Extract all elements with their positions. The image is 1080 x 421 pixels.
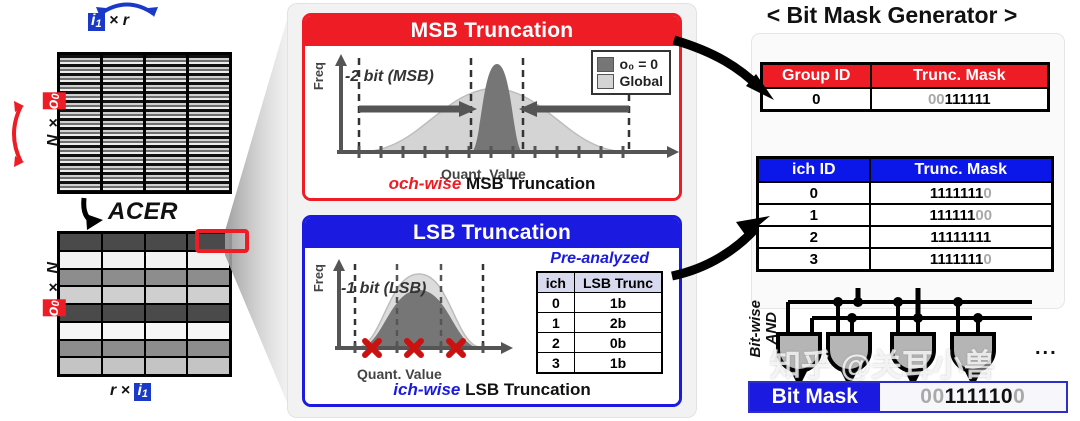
table-row: 211111111 <box>758 226 1053 248</box>
matrix-cell <box>103 234 146 250</box>
cell-trunc-mask: 11111100 <box>870 204 1053 226</box>
cell-trunc-mask: 00111111 <box>871 88 1049 111</box>
table-row: 31b <box>537 353 662 374</box>
matrix-cell <box>188 341 229 357</box>
msb-y-axis-label: Freq <box>311 62 326 90</box>
cell-lsb-trunc: 1b <box>574 293 662 313</box>
matrix-cell <box>146 270 189 286</box>
bitmask-dim-prefix: 00 <box>920 385 944 409</box>
gates-ellipsis: ... <box>1035 337 1058 360</box>
zoom-funnel-wedge <box>225 0 295 421</box>
matrix-row <box>60 305 229 323</box>
col-trunc-mask: Trunc. Mask <box>870 158 1053 183</box>
matrix-cell <box>60 234 103 250</box>
legend-swatch-global <box>597 74 614 89</box>
mask-bright: 1111111 <box>930 251 983 268</box>
cell-trunc-mask: 11111111 <box>870 226 1053 248</box>
matrix-cell <box>103 287 146 303</box>
msb-to-lut-arrow-icon <box>660 18 790 118</box>
cell-ich: 3 <box>537 353 575 374</box>
matrix-cell <box>103 358 146 374</box>
col-ich-id: ich ID <box>758 158 870 183</box>
matrix-cell <box>188 252 229 268</box>
msb-panel-title: MSB Truncation <box>305 16 679 46</box>
i1-tag-top: i1 <box>88 13 105 31</box>
matrix-row <box>60 270 229 288</box>
table-row: 311111110 <box>758 248 1053 271</box>
msb-panel-body: Freq -2 bit (MSB) <box>305 46 679 198</box>
mask-bright: 111111 <box>945 91 991 108</box>
table-row: 011111110 <box>758 182 1053 204</box>
legend-label-och: o₀ = 0 <box>619 56 658 72</box>
top-matrix-dimension-label: i1 × r <box>88 12 129 31</box>
matrix-cell <box>60 341 103 357</box>
matrix-column <box>60 55 103 191</box>
mask-dim-suffix: 0 <box>983 251 991 268</box>
table-row: 20b <box>537 333 662 353</box>
cell-trunc-mask: 11111110 <box>870 248 1053 271</box>
bit-mask-output-bar: Bit Mask 001111100 <box>748 381 1068 413</box>
cell-ich: 0 <box>537 293 575 313</box>
mask-dim-suffix: 0 <box>983 185 991 202</box>
legend-label-global: Global <box>619 73 663 89</box>
matrix-cell <box>103 270 146 286</box>
matrix-cell <box>60 270 103 286</box>
col-trunc-mask: Trunc. Mask <box>871 64 1049 89</box>
mask-bright: 1111111 <box>930 185 983 202</box>
table-row: 01b <box>537 293 662 313</box>
table-row: 000111111 <box>762 88 1049 111</box>
lsb-trunc-lut-table: ich ID Trunc. Mask 011111110111111100211… <box>756 156 1054 272</box>
table-row: 12b <box>537 313 662 333</box>
matrix-cell <box>103 341 146 357</box>
matrix-cell <box>188 305 229 321</box>
lsb-to-lut-arrow-icon <box>660 182 790 292</box>
cell-ich: 1 <box>537 313 575 333</box>
matrix-cell <box>146 252 189 268</box>
matrix-cell <box>103 305 146 321</box>
matrix-cell <box>146 305 189 321</box>
bottom-matrix-row-dimension-label: o0 × N <box>0 262 66 321</box>
matrix-cell <box>188 323 229 339</box>
matrix-cell <box>103 323 146 339</box>
mask-bright: 11111111 <box>930 229 991 246</box>
preanalyzed-lsb-table: ich LSB Trunc 01b12b20b31b <box>536 271 663 374</box>
matrix-row <box>60 341 229 359</box>
matrix-cell <box>103 252 146 268</box>
table-header-row: Group ID Trunc. Mask <box>762 64 1049 89</box>
bit-mask-output-label: Bit Mask <box>750 383 880 411</box>
mask-dim-prefix: 00 <box>928 91 945 108</box>
bit-mask-output-value: 001111100 <box>880 383 1066 411</box>
mask-bright: 111111 <box>929 207 975 224</box>
lsb-truncation-panel: LSB Truncation Freq -1 bit (LSB) <box>302 215 682 407</box>
matrix-row <box>60 358 229 374</box>
cell-lsb-trunc: 2b <box>574 313 662 333</box>
col-lsb-trunc: LSB Trunc <box>574 272 662 293</box>
cell-lsb-trunc: 0b <box>574 333 662 353</box>
bitmask-bright: 111110 <box>945 385 1013 409</box>
preanalyzed-table-title: Pre-analyzed <box>550 250 649 268</box>
and-gate-array <box>770 288 1040 383</box>
o0-tag-bottom: o0 <box>43 299 66 316</box>
original-weight-matrix <box>57 52 232 194</box>
truncation-method-panels: MSB Truncation Freq -2 bit (MSB) <box>288 4 696 417</box>
selected-tile-highlight <box>195 229 249 253</box>
matrix-cell <box>60 323 103 339</box>
table-header-row: ich LSB Trunc <box>537 272 662 293</box>
lsb-panel-body: Freq -1 bit (LSB) <box>305 248 679 404</box>
top-matrix-row-dimension-label: N × o0 <box>0 92 66 151</box>
matrix-cell <box>188 270 229 286</box>
lsb-panel-title: LSB Truncation <box>305 218 679 248</box>
table-row: 111111100 <box>758 204 1053 226</box>
msb-truncation-panel: MSB Truncation Freq -2 bit (MSB) <box>302 13 682 201</box>
msb-panel-footer: och-wise MSB Truncation <box>305 174 679 194</box>
matrix-cell <box>60 305 103 321</box>
matrix-cell <box>146 234 189 250</box>
col-ich: ich <box>537 272 575 293</box>
bottom-matrix-dimension-label: r × i1 <box>110 382 151 401</box>
cell-lsb-trunc: 1b <box>574 353 662 374</box>
lsb-bit-note: -1 bit (LSB) <box>341 280 426 298</box>
o0-tag-top: o0 <box>43 92 66 109</box>
matrix-cell <box>146 358 189 374</box>
matrix-cell <box>188 287 229 303</box>
i1-tag-bottom: i1 <box>134 383 151 401</box>
matrix-row <box>60 323 229 341</box>
matrix-cell <box>60 287 103 303</box>
mask-dim-suffix: 00 <box>975 207 992 224</box>
matrix-row <box>60 287 229 305</box>
matrix-column <box>146 55 189 191</box>
cell-ich: 2 <box>537 333 575 353</box>
bitmask-dim-suffix: 0 <box>1013 385 1025 409</box>
cell-trunc-mask: 11111110 <box>870 182 1053 204</box>
matrix-column <box>103 55 146 191</box>
legend-swatch-och <box>597 57 614 72</box>
legend-entry: o₀ = 0 <box>597 56 663 72</box>
legend-entry: Global <box>597 73 663 89</box>
matrix-cell <box>146 323 189 339</box>
msb-trunc-lut-table: Group ID Trunc. Mask 000111111 <box>760 62 1050 112</box>
matrix-column <box>189 55 229 191</box>
acer-label: ACER <box>108 198 178 226</box>
lsb-distribution-chart <box>327 256 517 366</box>
matrix-cell <box>146 287 189 303</box>
matrix-cell <box>60 252 103 268</box>
matrix-cell <box>146 341 189 357</box>
lsb-panel-footer: ich-wise LSB Truncation <box>305 380 679 400</box>
matrix-cell <box>188 358 229 374</box>
matrix-cell <box>60 358 103 374</box>
matrix-row <box>60 252 229 270</box>
table-header-row: ich ID Trunc. Mask <box>758 158 1053 183</box>
lsb-y-axis-label: Freq <box>311 264 326 292</box>
